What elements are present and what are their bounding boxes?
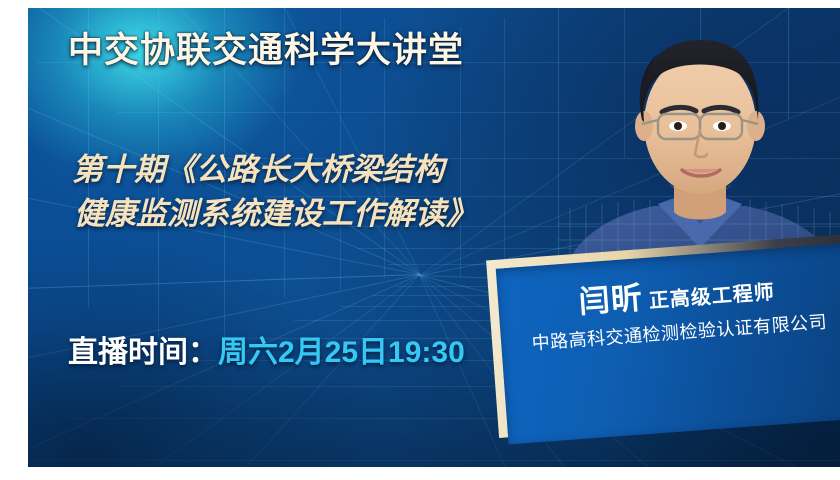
- livestream-time: 直播时间：周六2月25日19:30: [68, 338, 465, 368]
- speaker-card-text: 闫昕正高级工程师 中路高科交通检测检验认证有限公司: [497, 267, 840, 355]
- page-title: 中交协联交通科学大讲堂: [68, 32, 464, 71]
- subtitle-line-1: 第十期《公路长大桥梁结构: [72, 152, 444, 187]
- speaker-title: 正高级工程师: [648, 281, 775, 312]
- episode-subtitle: 第十期《公路长大桥梁结构 健康监测系统建设工作解读》: [72, 148, 477, 236]
- speaker-card: 闫昕正高级工程师 中路高科交通检测检验认证有限公司: [486, 233, 840, 450]
- poster-root: 中交协联交通科学大讲堂 第十期《公路长大桥梁结构 健康监测系统建设工作解读》 直…: [0, 0, 840, 480]
- subtitle-line-2: 健康监测系统建设工作解读》: [72, 192, 477, 236]
- speaker-name: 闫昕: [578, 280, 644, 320]
- livestream-time-value: 周六2月25日19:30: [218, 336, 465, 369]
- livestream-time-label: 直播时间：: [68, 336, 218, 369]
- banner-background: 中交协联交通科学大讲堂 第十期《公路长大桥梁结构 健康监测系统建设工作解读》 直…: [28, 8, 840, 467]
- speaker-card-body: 闫昕正高级工程师 中路高科交通检测检验认证有限公司: [496, 242, 840, 445]
